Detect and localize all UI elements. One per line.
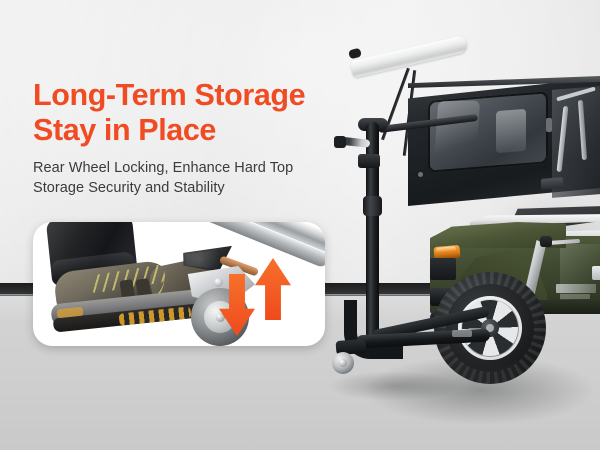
vehicle-floor-shadow <box>330 330 600 440</box>
vehicle-body-badge-secondary <box>560 294 590 299</box>
subcopy: Rear Wheel Locking, Enhance Hard Top Sto… <box>33 158 363 198</box>
vehicle-grille-edge <box>430 258 456 280</box>
hard-top-clip <box>546 118 552 132</box>
headline-line-1: Long-Term Storage <box>33 78 363 113</box>
subcopy-line-2: Storage Security and Stability <box>33 178 363 198</box>
arrow-up-icon <box>255 258 291 320</box>
hard-top-latch <box>541 177 563 190</box>
product-feature-banner: Long-Term Storage Stay in Place Rear Whe… <box>0 0 600 450</box>
headline-line-2: Stay in Place <box>33 113 363 148</box>
headline: Long-Term Storage Stay in Place <box>33 78 363 148</box>
vehicle-body-badge <box>556 284 596 293</box>
hard-top-grommet <box>418 172 423 177</box>
window-interior-reflection <box>496 109 526 153</box>
cart-post-sleeve <box>363 196 382 216</box>
vehicle-side-mirror <box>540 236 552 247</box>
caster-pivot-bolt <box>214 278 223 287</box>
inset-photo-scene <box>33 222 325 346</box>
inset-photo-card <box>33 222 325 346</box>
subcopy-line-1: Rear Wheel Locking, Enhance Hard Top <box>33 158 363 178</box>
copy-block: Long-Term Storage Stay in Place Rear Whe… <box>33 78 363 198</box>
vehicle-side-box <box>592 266 600 280</box>
window-glare <box>434 101 480 164</box>
